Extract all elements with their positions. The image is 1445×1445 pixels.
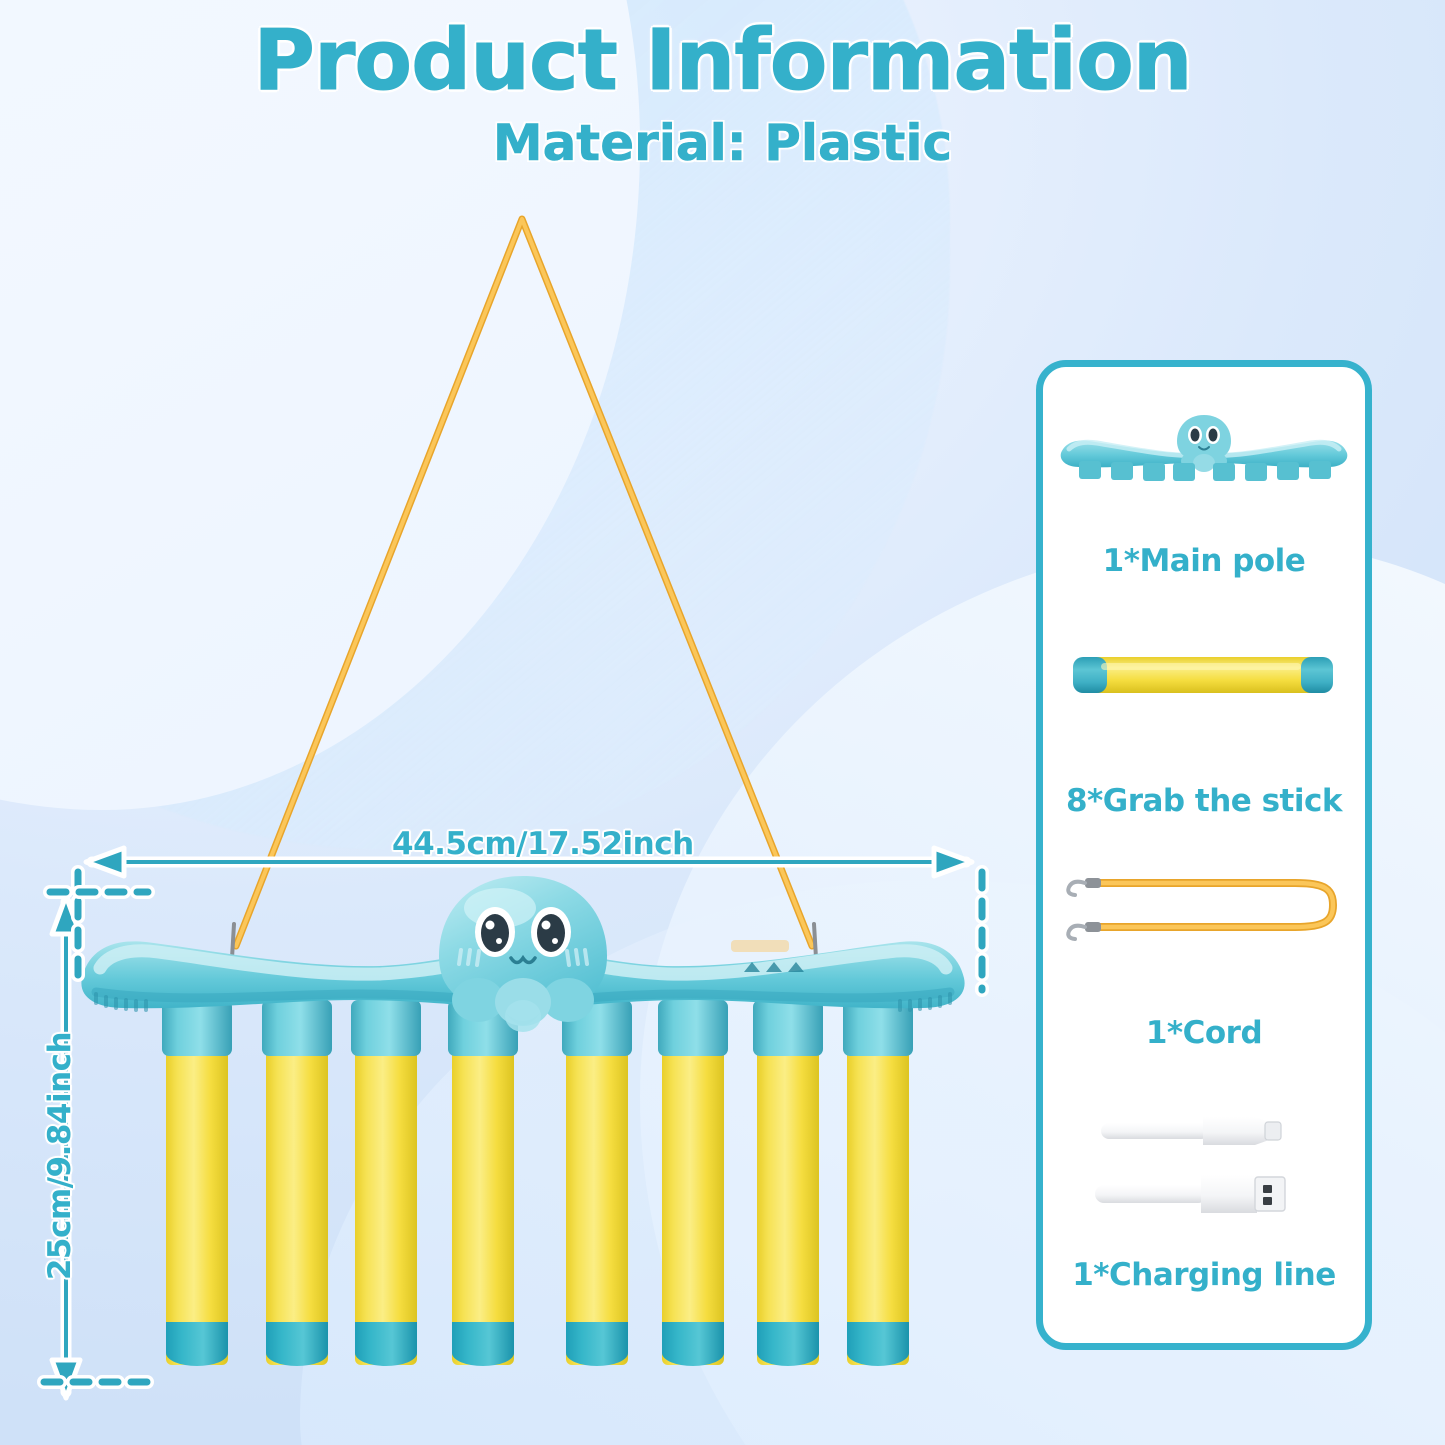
parts-list-panel: 1*Main pole 8*Grab the stick	[1036, 360, 1372, 1350]
material-subtitle: Material: Plastic	[0, 114, 1445, 172]
bar-marks	[744, 962, 804, 972]
height-dimension-label: 25cm/9.84inch	[42, 1026, 78, 1286]
octopus-eye-left	[475, 907, 515, 957]
grab-stick	[847, 1010, 909, 1366]
grab-stick	[566, 1010, 628, 1366]
grab-stick	[355, 1010, 417, 1366]
width-dimension-label: 44.5cm/17.52inch	[392, 826, 694, 862]
usb-c-connector	[1101, 1117, 1281, 1145]
octopus-eye-right	[531, 907, 571, 957]
grab-stick	[757, 1010, 819, 1366]
product-information-graphic: Product Information Material: Plastic	[0, 0, 1445, 1445]
grab-stick	[452, 1010, 514, 1366]
part-label-grab-stick: 8*Grab the stick	[1043, 783, 1365, 819]
yellow-stick-icon	[1071, 649, 1335, 701]
page-title: Product Information	[0, 18, 1445, 104]
usb-charging-cable-icon	[1095, 1107, 1331, 1235]
part-label-charging-line: 1*Charging line	[1043, 1257, 1365, 1293]
grab-stick	[166, 1010, 228, 1366]
octopus-bar-icon	[1051, 395, 1357, 505]
part-label-cord: 1*Cord	[1043, 1015, 1365, 1051]
grab-sticks-group	[166, 1010, 909, 1366]
grab-stick	[266, 1010, 328, 1366]
octopus-head	[439, 876, 607, 1032]
usb-a-connector	[1095, 1175, 1285, 1213]
bar-sticker	[731, 940, 789, 952]
orange-cord-icon	[1057, 867, 1357, 945]
part-label-main-pole: 1*Main pole	[1043, 543, 1365, 579]
header: Product Information Material: Plastic	[0, 18, 1445, 172]
grab-stick	[662, 1010, 724, 1366]
